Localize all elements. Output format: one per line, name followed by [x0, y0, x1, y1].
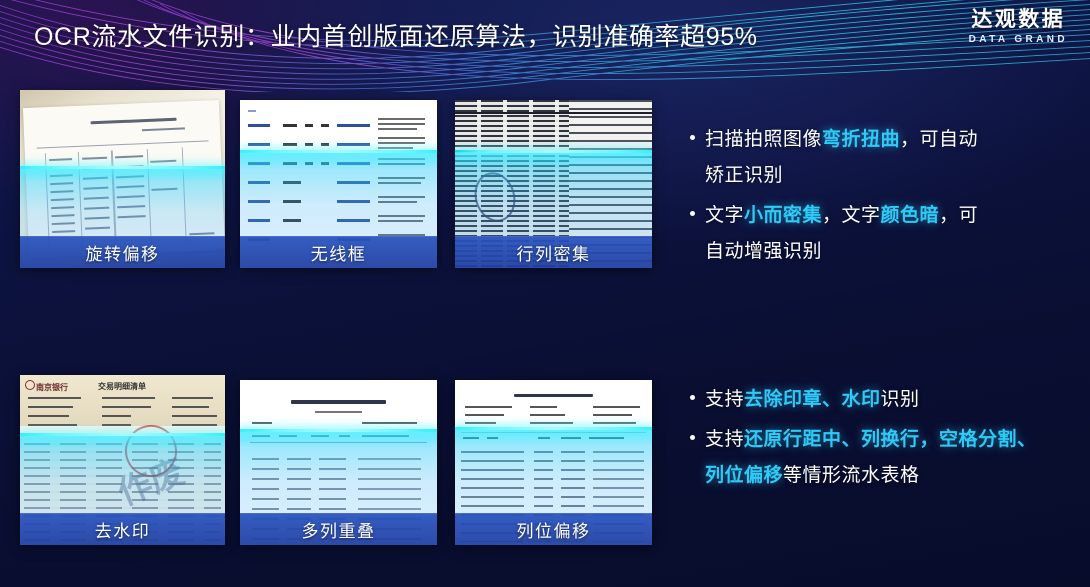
doc-field — [172, 406, 209, 408]
doc-row — [305, 124, 313, 127]
highlighted-text: 列位偏移 — [705, 465, 783, 486]
doc-field — [172, 424, 217, 426]
brand-logo: 达观数据 DATA GRAND — [969, 8, 1068, 45]
doc-row — [378, 196, 425, 198]
doc-text-run — [152, 188, 178, 191]
paper-sheet — [23, 100, 225, 258]
doc-field — [530, 406, 558, 408]
card-caption: 多列重叠 — [240, 513, 437, 545]
doc-row — [337, 200, 370, 203]
doc-text-run — [83, 187, 109, 190]
doc-row — [283, 162, 297, 165]
doc-field — [593, 406, 640, 408]
doc-field — [102, 424, 131, 426]
sample-card-borderless[interactable]: 无线框 — [240, 100, 437, 268]
card-caption: 去水印 — [20, 513, 225, 545]
feature-bullet-line: 支持去除印章、水印识别 — [705, 382, 1073, 418]
doc-text-run — [115, 155, 142, 158]
doc-text-run — [84, 207, 110, 210]
plain-text: 扫描拍照图像 — [705, 129, 822, 150]
sample-card-dense-grid[interactable]: 行列密集 — [455, 100, 652, 268]
doc-field — [465, 414, 504, 416]
doc-text-run — [83, 177, 109, 180]
doc-row — [305, 162, 313, 165]
doc-row — [248, 200, 270, 203]
doc-text-run — [84, 197, 110, 200]
doc-row — [378, 147, 413, 149]
doc-row — [378, 220, 423, 222]
doc-text-run — [50, 190, 74, 193]
doc-text-run — [49, 158, 73, 161]
doc-field — [593, 422, 636, 424]
doc-row — [283, 143, 297, 146]
doc-text-run — [82, 167, 108, 170]
doc-row — [378, 182, 421, 184]
doc-row — [321, 124, 329, 127]
doc-field — [102, 397, 155, 399]
doc-field — [28, 424, 77, 426]
doc-field — [172, 415, 217, 417]
sample-card-multi-column-overlap[interactable]: 多列重叠 — [240, 380, 437, 545]
doc-title-bar — [291, 400, 386, 404]
doc-text-run — [49, 174, 73, 177]
doc-row — [378, 128, 417, 130]
doc-text-run — [51, 222, 75, 225]
doc-row — [378, 142, 425, 144]
doc-title-bar — [514, 394, 593, 397]
doc-row — [337, 124, 370, 127]
feature-bullet: 支持还原行距中、列换行，空格分割、列位偏移等情形流水表格 — [688, 422, 1073, 494]
doc-subtitle — [315, 411, 362, 413]
feature-bullet: 扫描拍照图像弯折扭曲，可自动矫正识别 — [688, 122, 1073, 194]
doc-row — [378, 215, 425, 217]
doc-row — [378, 137, 425, 139]
doc-text-run — [82, 157, 108, 160]
doc-col-header — [561, 437, 581, 439]
doc-column — [78, 152, 83, 248]
doc-row — [378, 123, 425, 125]
doc-text-run — [85, 227, 111, 230]
doc-row — [337, 162, 370, 165]
doc-row — [305, 143, 313, 146]
doc-line — [461, 432, 646, 433]
plain-text: ，可自动 — [900, 129, 978, 150]
doc-col-header — [538, 437, 550, 439]
highlighted-text: 小而密集 — [744, 205, 822, 226]
feature-bullet-line: 支持还原行距中、列换行，空格分割、 — [705, 422, 1073, 458]
plain-text: 识别 — [881, 389, 920, 410]
doc-col-header — [463, 437, 479, 439]
doc-row — [378, 118, 425, 120]
doc-field — [530, 414, 565, 416]
doc-row — [248, 143, 270, 146]
doc-row — [378, 163, 425, 165]
plain-text: 文字 — [705, 205, 744, 226]
doc-field — [172, 397, 213, 399]
doc-text-run — [151, 160, 177, 163]
card-caption: 列位偏移 — [455, 513, 652, 545]
doc-text-run — [248, 110, 256, 112]
feature-list-top: 扫描拍照图像弯折扭曲，可自动矫正识别文字小而密集，文字颜色暗，可自动增强识别 — [688, 122, 1073, 274]
doc-field — [252, 422, 272, 424]
plain-text: 支持 — [705, 389, 744, 410]
doc-text-run — [50, 198, 74, 201]
doc-text-run — [116, 185, 143, 188]
bank-name-label: 南京银行 — [36, 382, 68, 393]
doc-text-run — [52, 230, 76, 233]
sample-card-column-shift[interactable]: 列位偏移 — [455, 380, 652, 545]
doc-row — [248, 162, 270, 165]
feature-bullet-line: 文字小而密集，文字颜色暗，可 — [705, 198, 1073, 234]
doc-row — [378, 177, 425, 179]
doc-row — [378, 201, 417, 203]
doc-field — [465, 406, 512, 408]
plain-text: 自动增强识别 — [705, 241, 822, 262]
doc-text-run — [49, 166, 73, 169]
slide-header: OCR流水文件识别：业内首创版面还原算法，识别准确率超95% 达观数据 DATA… — [0, 0, 1090, 66]
doc-heading-line — [90, 118, 176, 125]
doc-line — [142, 127, 185, 131]
doc-column — [182, 148, 187, 244]
doc-text-run — [116, 165, 143, 168]
doc-text-run — [117, 195, 144, 198]
feature-bullet-line: 列位偏移等情形流水表格 — [705, 458, 1073, 494]
feature-bullet-line: 自动增强识别 — [705, 234, 1073, 270]
doc-field — [593, 414, 632, 416]
highlighted-text: 去除印章、水印 — [744, 389, 881, 410]
card-caption: 行列密集 — [455, 236, 652, 268]
doc-col-header — [311, 435, 329, 437]
doc-row — [337, 143, 370, 146]
doc-field — [102, 406, 151, 408]
card-caption: 无线框 — [240, 236, 437, 268]
doc-row — [283, 124, 297, 127]
doc-line — [455, 112, 652, 114]
doc-line — [250, 442, 427, 443]
plain-text: 等情形流水表格 — [783, 465, 920, 486]
doc-field — [28, 406, 73, 408]
highlighted-text: 颜色暗 — [881, 205, 940, 226]
page-title: OCR流水文件识别：业内首创版面还原算法，识别准确率超95% — [34, 17, 758, 53]
doc-col-header — [279, 435, 297, 437]
feature-bullet: 支持去除印章、水印识别 — [688, 382, 1073, 418]
doc-text-run — [117, 205, 144, 208]
doc-row — [378, 158, 425, 160]
doc-field — [465, 422, 497, 424]
doc-column — [111, 150, 116, 246]
doc-row — [283, 200, 301, 203]
doc-text-run — [118, 215, 145, 218]
bank-logo-icon — [25, 380, 35, 390]
doc-col-header — [487, 437, 499, 439]
doc-text-run — [189, 232, 215, 235]
doc-row — [248, 124, 270, 127]
doc-row — [283, 219, 301, 222]
doc-line — [250, 430, 427, 431]
doc-row — [321, 143, 329, 146]
doc-field — [530, 422, 573, 424]
highlighted-text: 还原行距中、列换行，空格分割、 — [744, 429, 1037, 450]
slide-canvas: OCR流水文件识别：业内首创版面还原算法，识别准确率超95% 达观数据 DATA… — [0, 0, 1090, 587]
feature-bullet: 文字小而密集，文字颜色暗，可自动增强识别 — [688, 198, 1073, 270]
plain-text: 支持 — [705, 429, 744, 450]
doc-field — [362, 422, 417, 424]
doc-text-run — [51, 214, 75, 217]
doc-row — [337, 181, 370, 184]
doc-row — [337, 219, 370, 222]
doc-col-header — [252, 435, 270, 437]
doc-field — [28, 415, 69, 417]
doc-row — [283, 181, 301, 184]
doc-column — [146, 149, 151, 245]
doc-col-header — [589, 437, 624, 439]
doc-col-header — [339, 435, 351, 437]
feature-list-bottom: 支持去除印章、水印识别支持还原行距中、列换行，空格分割、列位偏移等情形流水表格 — [688, 382, 1073, 498]
doc-row — [248, 219, 270, 222]
doc-field — [28, 397, 81, 399]
logo-english-text: DATA GRAND — [969, 34, 1068, 45]
highlighted-text: 弯折扭曲 — [822, 129, 900, 150]
feature-bullet-line: 扫描拍照图像弯折扭曲，可自动 — [705, 122, 1073, 158]
doc-row — [248, 181, 270, 184]
bank-statement-title: 交易明细清单 — [98, 381, 146, 392]
feature-bullet-line: 矫正识别 — [705, 158, 1073, 194]
plain-text: ，可 — [939, 205, 978, 226]
sample-card-remove-watermark[interactable]: 南京银行 交易明细清单 作废 — [20, 375, 225, 545]
doc-row — [321, 162, 329, 165]
plain-text: ，文字 — [822, 205, 881, 226]
sample-card-rotated-offset[interactable]: 旋转偏移 — [20, 90, 225, 268]
doc-text-run — [84, 217, 110, 220]
doc-text-run — [51, 206, 75, 209]
doc-col-header — [362, 435, 409, 437]
card-caption: 旋转偏移 — [20, 236, 225, 268]
doc-text-run — [50, 182, 74, 185]
plain-text: 矫正识别 — [705, 165, 783, 186]
doc-text-run — [116, 175, 143, 178]
doc-field — [102, 415, 131, 417]
logo-chinese-text: 达观数据 — [969, 8, 1068, 32]
